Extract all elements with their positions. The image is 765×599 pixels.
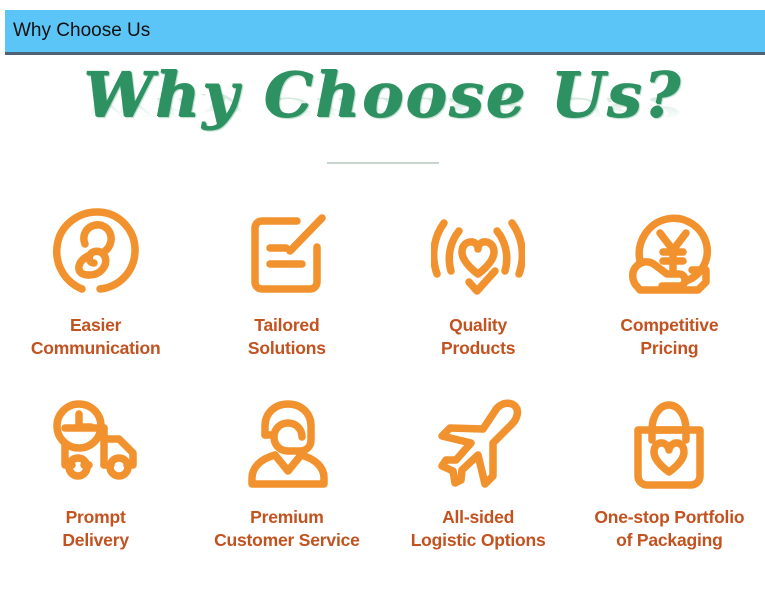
feature-label: Premium Customer Service: [214, 506, 360, 552]
feature-label: Tailored Solutions: [248, 314, 326, 360]
titlebar-bottom-border: [5, 52, 765, 55]
headset-agent-icon: [240, 388, 334, 500]
features-row-2: Prompt Delivery Premium Customer Service: [0, 388, 765, 584]
hand-holding-yen-coin-icon: [622, 196, 716, 308]
feature-item-tailored-solutions: Tailored Solutions: [191, 196, 382, 388]
airplane-icon: [431, 388, 525, 500]
feature-item-competitive-pricing: Competitive Pricing: [574, 196, 765, 388]
feature-label: Prompt Delivery: [62, 506, 129, 552]
document-pencil-icon: [240, 196, 334, 308]
title-divider: [327, 162, 439, 164]
features-grid: Easier Communication Tailored Solutions: [0, 196, 765, 584]
feature-item-easier-communication: Easier Communication: [0, 196, 191, 388]
feature-item-one-stop-portfolio-of-packaging: One-stop Portfolio of Packaging: [574, 388, 765, 584]
feature-label: Quality Products: [441, 314, 515, 360]
page-title-reflection: Why Choose Us?: [0, 94, 765, 120]
feature-item-quality-products: Quality Products: [383, 196, 574, 388]
feature-item-premium-customer-service: Premium Customer Service: [191, 388, 382, 584]
window-title: Why Choose Us: [5, 20, 150, 42]
features-row-1: Easier Communication Tailored Solutions: [0, 196, 765, 388]
delivery-truck-clock-icon: [47, 388, 145, 500]
feature-item-all-sided-logistic-options: All-sided Logistic Options: [383, 388, 574, 584]
hero-section: Why Choose Us? Why Choose Us?: [0, 62, 765, 172]
feature-label: Easier Communication: [31, 314, 161, 360]
ear-listening-icon: [49, 196, 143, 308]
window-titlebar-region: Why Choose Us: [0, 10, 765, 54]
feature-label: One-stop Portfolio of Packaging: [594, 506, 744, 552]
shopping-bag-heart-icon: [622, 388, 716, 500]
feature-item-prompt-delivery: Prompt Delivery: [0, 388, 191, 584]
heart-signal-check-icon: [431, 196, 525, 308]
window-titlebar: Why Choose Us: [5, 10, 765, 52]
feature-label: All-sided Logistic Options: [411, 506, 546, 552]
feature-label: Competitive Pricing: [620, 314, 718, 360]
